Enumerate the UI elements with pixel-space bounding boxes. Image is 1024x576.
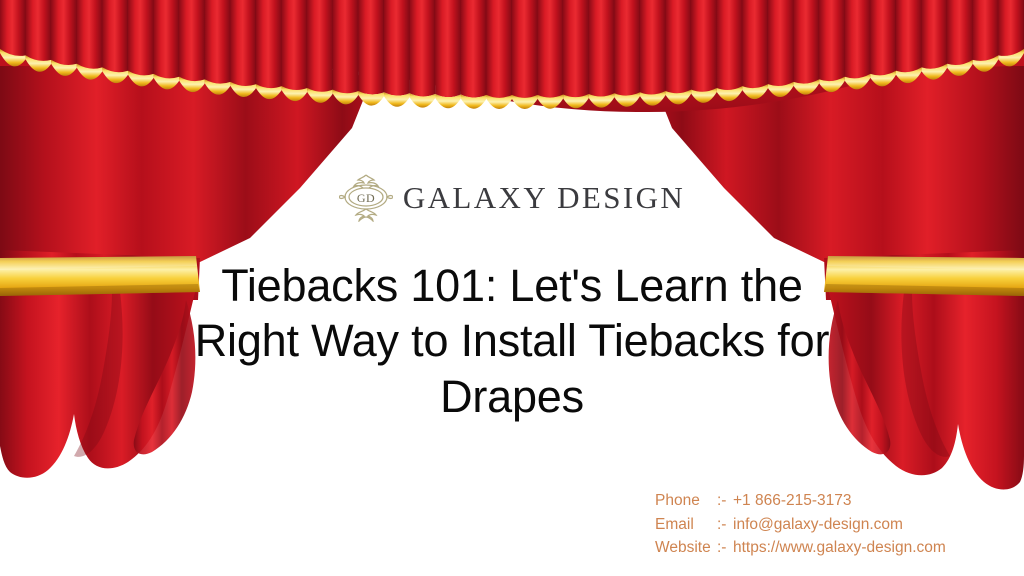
valance-pleat (691, 0, 717, 92)
valance-pleat (486, 0, 512, 98)
logo-wordmark: GALAXY DESIGN (403, 182, 685, 213)
valance-pleat (640, 0, 666, 95)
valance-pleat (845, 0, 871, 78)
contact-value-phone[interactable]: +1 866-215-3173 (733, 489, 852, 513)
valance-pleat (870, 0, 896, 75)
contact-info-block: Phone :- +1 866-215-3173 Email :- info@g… (655, 489, 946, 560)
valance-pleat (410, 0, 436, 97)
valance-pleat (77, 0, 103, 69)
valance-pleat (666, 0, 692, 93)
contact-row-phone: Phone :- +1 866-215-3173 (655, 489, 946, 513)
valance-pleat (307, 0, 333, 92)
contact-separator: :- (717, 513, 733, 537)
contact-label-website: Website (655, 536, 717, 560)
galaxy-design-crest-icon: GD (339, 172, 393, 222)
valance-pleat (998, 0, 1024, 56)
slide-title: Tiebacks 101: Let's Learn the Right Way … (178, 258, 846, 424)
valance-pleat (717, 0, 743, 90)
valance-pleat (538, 0, 564, 98)
valance-pleat (358, 0, 384, 95)
valance-pleat (922, 0, 948, 69)
valance-pleat (26, 0, 52, 61)
contact-value-website[interactable]: https://www.galaxy-design.com (733, 536, 946, 560)
valance-pleat (51, 0, 77, 65)
valance-pleat (794, 0, 820, 84)
left-tieback-band (0, 256, 200, 296)
valance-pleat (973, 0, 999, 61)
valance-pleat (614, 0, 640, 96)
valance-pleat (0, 0, 26, 56)
valance-pleat (333, 0, 359, 93)
valance-pleat (512, 0, 538, 98)
valance-pleat (435, 0, 461, 97)
valance-pleat (179, 0, 205, 81)
valance-pleat (384, 0, 410, 96)
contact-label-phone: Phone (655, 489, 717, 513)
contact-separator: :- (717, 489, 733, 513)
svg-text:GD: GD (357, 191, 375, 205)
valance-pleat (896, 0, 922, 72)
valance-pleat (742, 0, 768, 88)
contact-separator: :- (717, 536, 733, 560)
valance-pleat (102, 0, 128, 72)
valance-pleat (230, 0, 256, 86)
valance-pleat (128, 0, 154, 75)
valance-pleat (205, 0, 231, 84)
contact-value-email[interactable]: info@galaxy-design.com (733, 513, 903, 537)
valance-pleat (768, 0, 794, 86)
contact-label-email: Email (655, 513, 717, 537)
right-tieback-band (824, 256, 1024, 296)
contact-row-website: Website :- https://www.galaxy-design.com (655, 536, 946, 560)
valance-pleat (819, 0, 845, 81)
valance-pleat (282, 0, 308, 90)
valance-pleat (947, 0, 973, 65)
valance-pleat (154, 0, 180, 78)
valance-pleat (563, 0, 589, 97)
valance-pleat (461, 0, 487, 98)
valance-pleat (256, 0, 282, 88)
valance-pleat (589, 0, 615, 97)
contact-row-email: Email :- info@galaxy-design.com (655, 513, 946, 537)
galaxy-design-logo: GD GALAXY DESIGN (0, 172, 1024, 222)
presentation-slide: GD GALAXY DESIGN Tiebacks 101: Let's Lea… (0, 0, 1024, 576)
